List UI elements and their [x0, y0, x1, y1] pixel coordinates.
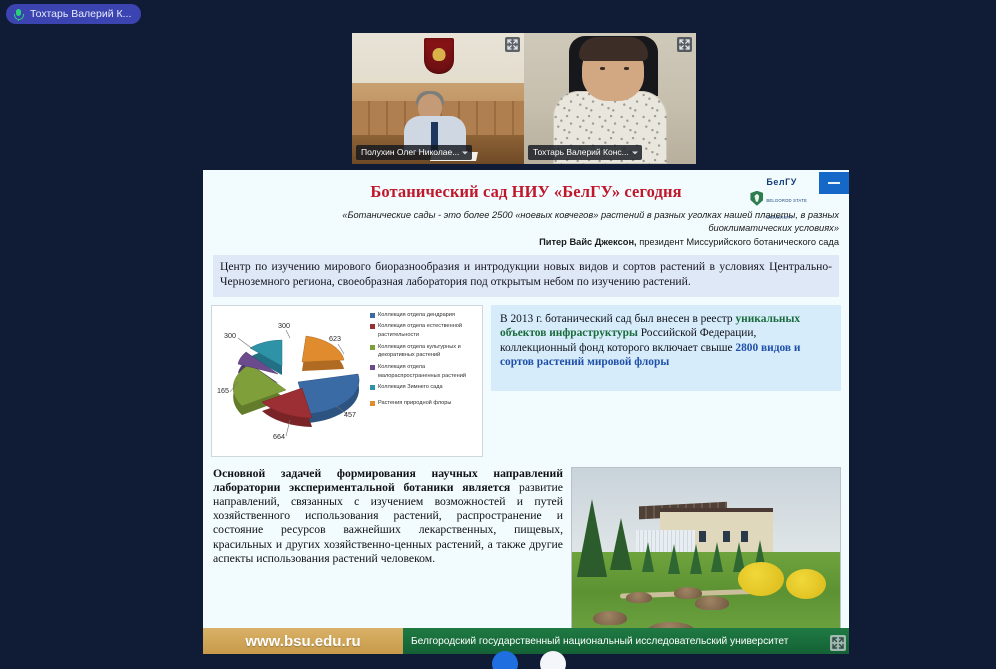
- pie-value-300-flora: 300: [278, 321, 290, 330]
- pie-value-664: 664: [273, 432, 285, 441]
- active-speaker-name: Тохтарь Валерий К...: [30, 8, 131, 20]
- chart-legend: Коллекция отдела дендрария Коллекция отд…: [370, 311, 482, 411]
- pie-value-623: 623: [329, 334, 341, 343]
- pie-value-300-winter: 300: [224, 331, 236, 340]
- participant-nameplate[interactable]: Тохтарь Валерий Конс...: [528, 145, 642, 160]
- video-tile-polukhin[interactable]: Полухин Олег Николае...: [352, 33, 524, 164]
- quote-author-name: Питер Вайс Джексон,: [539, 237, 637, 247]
- slide-body-text: Основной задачей формирования научных на…: [211, 467, 563, 567]
- note-part1: В 2013 г. ботанический сад был внесен в …: [500, 313, 735, 325]
- participant-name: Тохтарь Валерий Конс...: [533, 147, 629, 157]
- expand-icon[interactable]: [830, 635, 846, 651]
- legend-item: Коллекция отдела естественной растительн…: [370, 322, 482, 339]
- legend-label: Коллекция отдела культурных и декоративн…: [378, 343, 482, 360]
- logo-line1: BELGOROD STATE: [766, 198, 807, 203]
- chevron-down-icon: [462, 151, 468, 154]
- shared-slide[interactable]: БелГУ BELGOROD STATE UNIVERSITY Ботаниче…: [203, 170, 849, 654]
- slide-footer: www.bsu.edu.ru Белгородский государствен…: [203, 628, 849, 654]
- collection-pie-chart: 623 457 664 165 300 300 Коллекция отдела…: [211, 305, 483, 457]
- quote-author-role: президент Миссурийского ботанического са…: [637, 237, 839, 247]
- legend-item: Коллекция отдела дендрария: [370, 311, 482, 320]
- footer-url: www.bsu.edu.ru: [203, 628, 403, 654]
- legend-label: Растения природной флоры: [378, 399, 451, 408]
- pie-value-457: 457: [344, 410, 356, 419]
- slide-middle-row: 623 457 664 165 300 300 Коллекция отдела…: [211, 305, 841, 457]
- participant-nameplate[interactable]: Полухин Олег Николае...: [356, 145, 472, 160]
- logo-short: БелГУ: [766, 177, 796, 187]
- expand-icon[interactable]: [505, 37, 520, 52]
- slide-intro-box: Центр по изучению мирового биоразнообраз…: [213, 255, 839, 296]
- chevron-down-icon: [632, 151, 638, 154]
- expand-icon[interactable]: [677, 37, 692, 52]
- participant-name: Полухин Олег Николае...: [361, 147, 459, 157]
- legend-label: Коллекция отдела естественной растительн…: [378, 322, 482, 339]
- meeting-control-bar: [0, 653, 996, 669]
- camera-control-button[interactable]: [540, 651, 566, 669]
- minimize-icon[interactable]: [819, 172, 849, 194]
- legend-item: Растения природной флоры: [370, 399, 482, 408]
- pie-svg: [216, 314, 376, 454]
- video-tile-row: Полухин Олег Николае...: [352, 33, 696, 164]
- conference-app: Тохтарь Валерий К...: [0, 0, 996, 669]
- legend-label: Коллекция отдела малораспространенных ра…: [378, 363, 482, 380]
- video-frame-image: [352, 33, 524, 164]
- legend-label: Коллекция отдела дендрария: [378, 311, 455, 320]
- logo-line2: UNIVERSITY: [766, 215, 793, 220]
- microphone-icon: [12, 8, 25, 21]
- footer-university-name: Белгородский государственный национальны…: [403, 628, 849, 654]
- active-speaker-pill[interactable]: Тохтарь Валерий К...: [6, 4, 141, 24]
- belgu-logo: БелГУ BELGOROD STATE UNIVERSITY: [750, 173, 807, 223]
- registry-note-box: В 2013 г. ботанический сад был внесен в …: [491, 305, 841, 391]
- shield-icon: [750, 191, 763, 206]
- video-frame-image: [524, 33, 696, 164]
- legend-item: Коллекция Зимнего сада: [370, 383, 482, 392]
- slide-quote-author: Питер Вайс Джексон, президент Миссурийск…: [203, 237, 839, 247]
- pie-graphic: 623 457 664 165 300 300: [216, 314, 376, 454]
- legend-item: Коллекция отдела малораспространенных ра…: [370, 363, 482, 380]
- legend-item: Коллекция отдела культурных и декоративн…: [370, 343, 482, 360]
- mic-control-button[interactable]: [492, 651, 518, 669]
- video-tile-tokhtar[interactable]: Тохтарь Валерий Конс...: [524, 33, 696, 164]
- slide-bottom-row: Основной задачей формирования научных на…: [211, 467, 841, 652]
- legend-label: Коллекция Зимнего сада: [378, 383, 443, 392]
- pie-value-165: 165: [217, 386, 229, 395]
- garden-photo: [571, 467, 841, 652]
